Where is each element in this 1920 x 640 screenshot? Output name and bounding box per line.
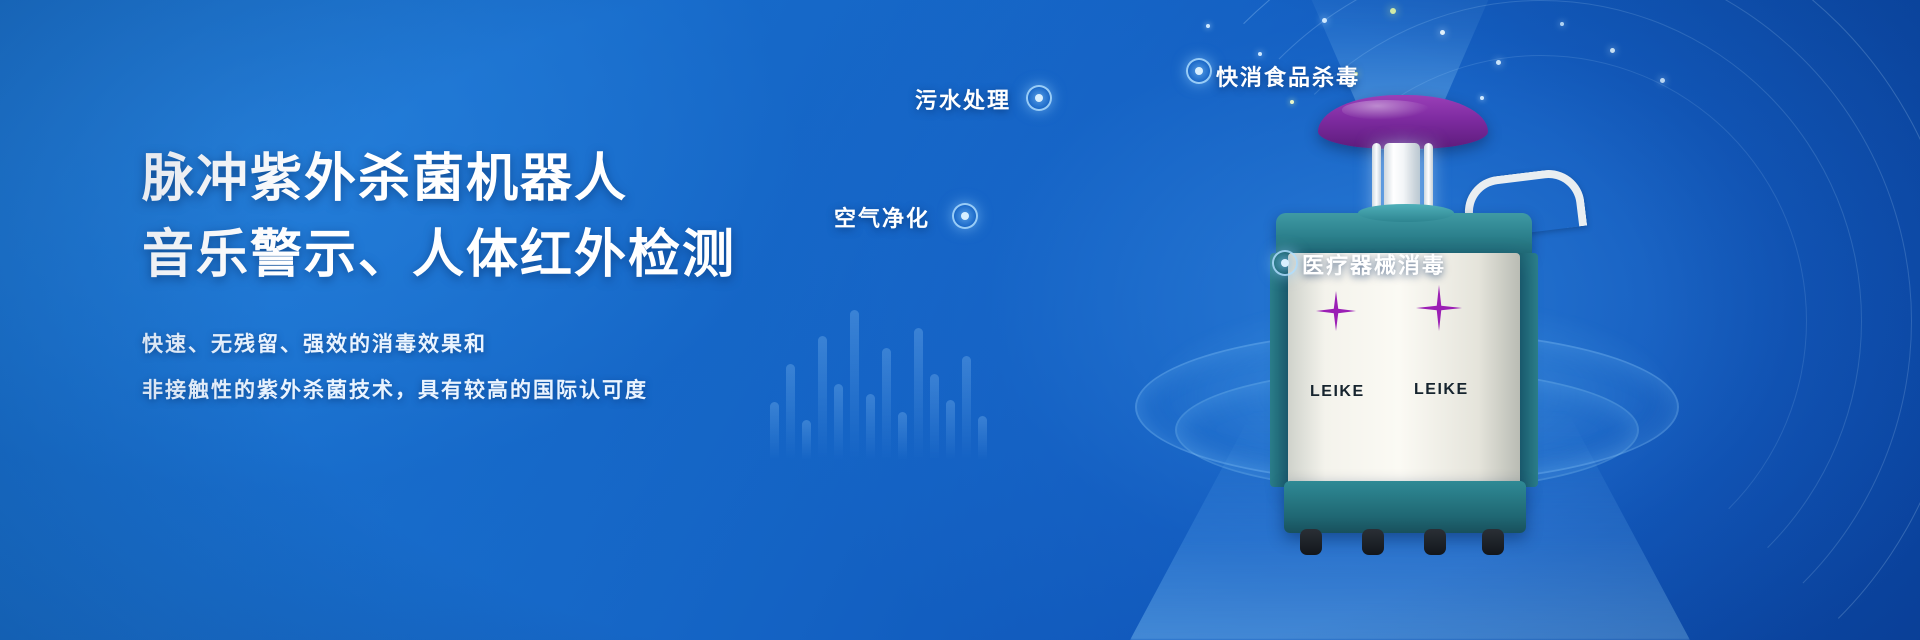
hero-banner: LEIKE LEIKE 污水处理 快消食品杀毒 空气净化 医疗器械消毒 脉冲紫外… (0, 0, 1920, 640)
robot-wheel (1300, 529, 1322, 555)
callout-node-air (952, 203, 978, 229)
product-brand-right: LEIKE (1414, 381, 1469, 399)
callout-label-food: 快消食品杀毒 (1216, 60, 1360, 92)
robot-wheel (1362, 529, 1384, 555)
banner-headline-line2: 音乐警示、人体红外检测 (142, 226, 782, 286)
robot-wheel (1482, 529, 1504, 555)
callout-label-air: 空气净化 (834, 201, 930, 233)
robot-lamp-dome (1318, 95, 1488, 149)
banner-copy-block: 脉冲紫外杀菌机器人 音乐警示、人体红外检测 快速、无残留、强效的消毒效果和 非接… (142, 150, 782, 423)
sparkle-star-icon (1316, 291, 1356, 331)
banner-subtitle-line1: 快速、无残留、强效的消毒效果和 (142, 331, 782, 357)
callout-label-medical: 医疗器械消毒 (1302, 248, 1446, 280)
robot-base (1284, 481, 1526, 533)
banner-subtitle-line2: 非接触性的紫外杀菌技术，具有较高的国际认可度 (142, 377, 782, 403)
equalizer-bars-decoration (770, 240, 1000, 460)
banner-subtitle-block: 快速、无残留、强效的消毒效果和 非接触性的紫外杀菌技术，具有较高的国际认可度 (142, 331, 782, 404)
callout-node-food (1186, 58, 1212, 84)
callout-node-sewage (1026, 85, 1052, 111)
robot-wheel (1424, 529, 1446, 555)
banner-headline-line1: 脉冲紫外杀菌机器人 (142, 150, 782, 210)
callout-node-medical (1272, 250, 1298, 276)
robot-cabinet-panel (1288, 253, 1520, 487)
product-brand-left: LEIKE (1310, 383, 1365, 401)
callout-label-sewage: 污水处理 (915, 83, 1011, 115)
sparkle-star-icon (1416, 285, 1462, 331)
uv-disinfection-robot-illustration: LEIKE LEIKE (1270, 95, 1540, 575)
